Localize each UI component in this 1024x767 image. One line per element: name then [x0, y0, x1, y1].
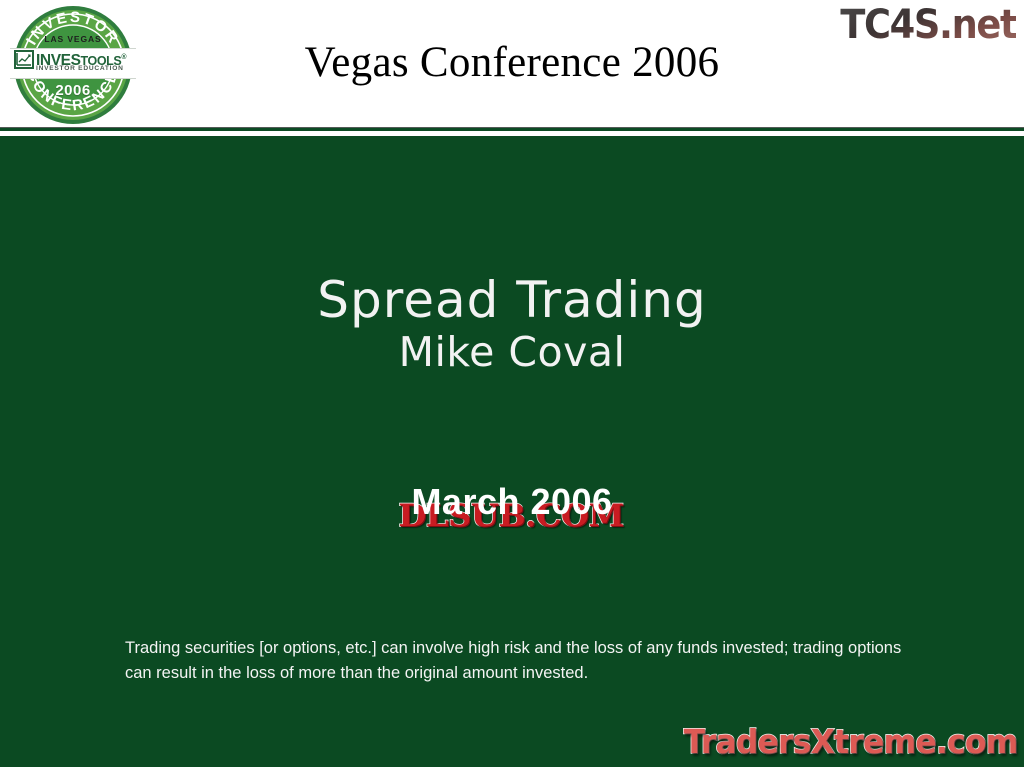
tc4s-watermark: TC4S.net	[840, 2, 1016, 48]
risk-disclaimer-text: Trading securities [or options, etc.] ca…	[125, 636, 925, 686]
presentation-date: March 2006	[0, 481, 1024, 523]
presenter-name: Mike Coval	[0, 328, 1024, 376]
slide-header: INVESTOR CONFERENCE LAS VEGAS INVESTOOLS…	[0, 0, 1024, 127]
deck-title: Spread Trading	[0, 271, 1024, 329]
tradersxtreme-watermark: TradersXtreme.com	[684, 723, 1018, 761]
slide-content-area: Spread Trading Mike Coval DLSUB.COM Marc…	[0, 136, 1024, 767]
slide-canvas: INVESTOR CONFERENCE LAS VEGAS INVESTOOLS…	[0, 0, 1024, 767]
